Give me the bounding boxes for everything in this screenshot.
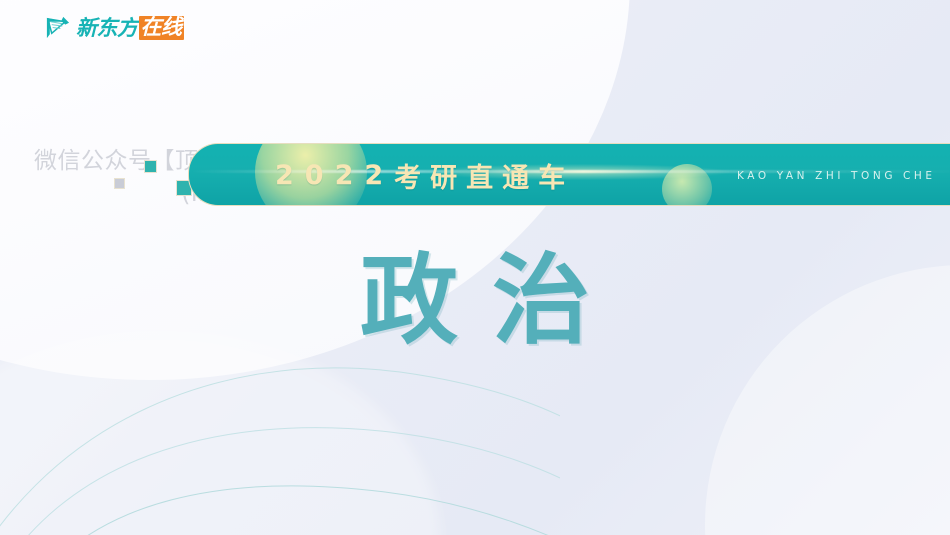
banner-title: 2022考研直通车: [275, 144, 574, 206]
course-banner: 2022考研直通车 KAO YAN ZHI TONG CHE: [188, 143, 950, 206]
logo-text-primary: 新东方: [76, 18, 138, 39]
banner-pinyin: KAO YAN ZHI TONG CHE: [737, 144, 936, 206]
slide-root: 新东方在线 微信公众号【顶尖考研】 (ID：djky66) 2022考研直通车 …: [0, 0, 950, 535]
decorative-square: [144, 160, 157, 173]
banner-year: 2022: [275, 160, 394, 191]
banner-title-text: 考研直通车: [394, 156, 574, 195]
logo-text-secondary: 在线: [139, 16, 184, 40]
pencil-flag-icon: [44, 15, 71, 41]
decorative-square: [114, 178, 125, 189]
logo-wordmark: 新东方在线: [76, 16, 184, 40]
brand-logo[interactable]: 新东方在线: [44, 13, 184, 43]
page-title: 政治: [0, 252, 950, 350]
